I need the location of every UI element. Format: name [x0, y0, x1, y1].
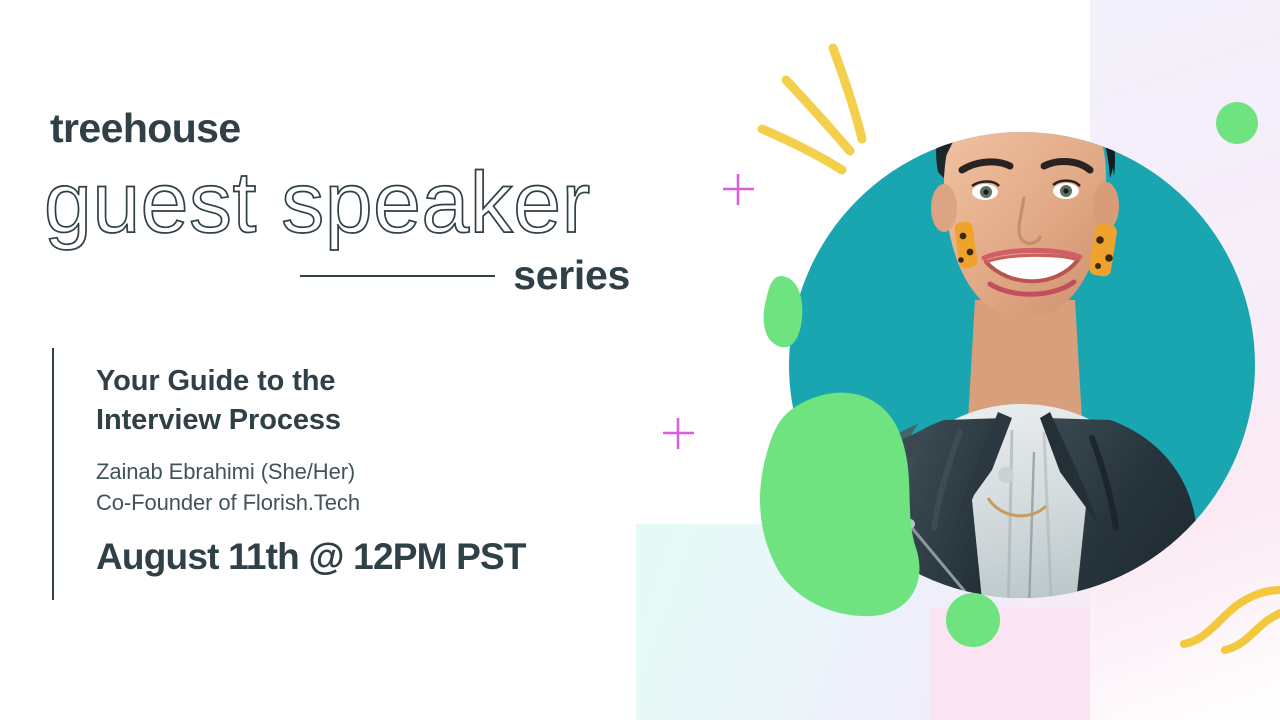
slide-canvas: treehouse guest speaker series Your Guid… [0, 0, 1280, 720]
event-details: Your Guide to the Interview Process Zain… [52, 348, 612, 600]
text-column: treehouse guest speaker series Your Guid… [0, 0, 680, 720]
event-datetime: August 11th @ 12PM PST [96, 537, 612, 578]
brand-wordmark: treehouse [50, 108, 241, 149]
hero-headline: guest speaker [44, 160, 591, 246]
plus-icon-top [723, 174, 754, 205]
right-gradient-panel [1090, 0, 1280, 720]
series-row: series [300, 255, 630, 296]
series-label: series [513, 255, 630, 296]
sparkle-icon [762, 48, 862, 170]
green-blob-small [764, 276, 803, 347]
bottom-pink-panel [930, 608, 1090, 720]
talk-title: Your Guide to the Interview Process [96, 362, 426, 439]
speaker-name: Zainab Ebrahimi (She/Her) [96, 456, 612, 487]
speaker-role: Co-Founder of Florish.Tech [96, 487, 612, 518]
series-divider-rule [300, 275, 495, 277]
